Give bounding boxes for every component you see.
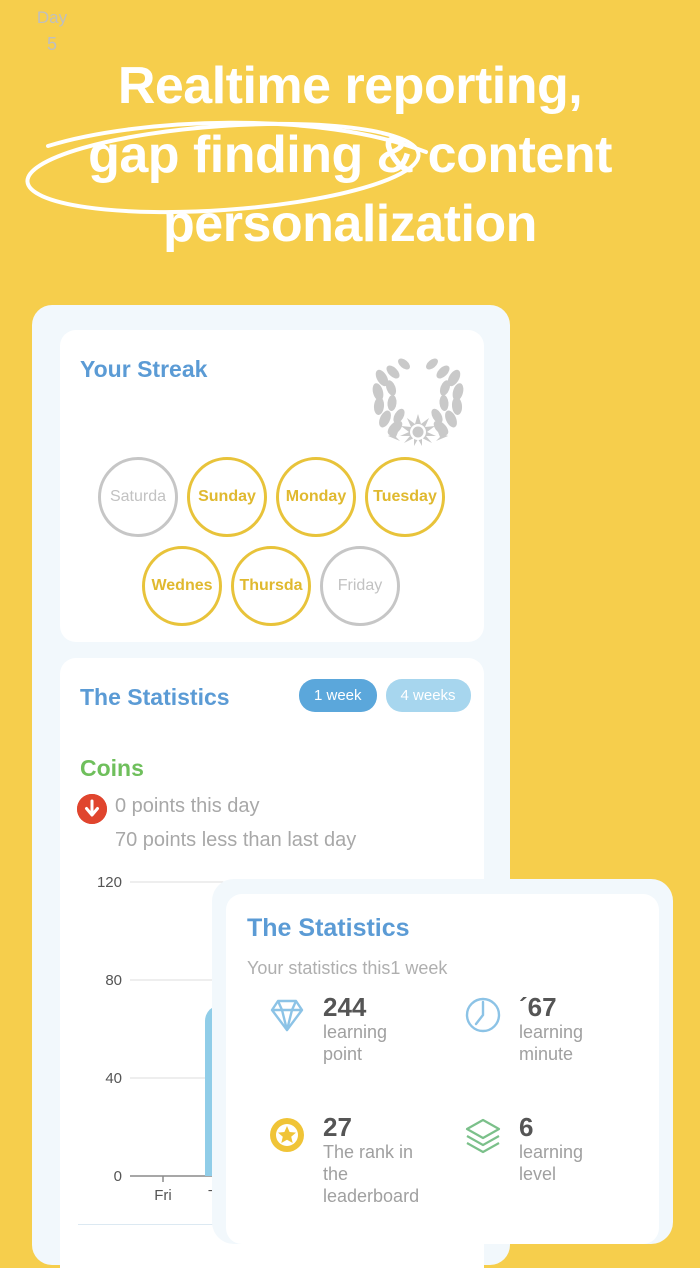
streak-days-row-bottom: Wednes Thursda Friday: [142, 546, 400, 626]
streak-day-label: Tuesday: [373, 488, 437, 506]
svg-text:80: 80: [105, 972, 122, 989]
stat-value: ´67: [519, 993, 611, 1021]
stat-leaderboard-rank: 27 The rank in the leaderboard: [265, 1113, 415, 1207]
svg-text:Fri: Fri: [154, 1187, 172, 1204]
stat-label: The rank in the leaderboard: [323, 1141, 415, 1207]
streak-day-label: Sunday: [198, 488, 256, 506]
stat-label: learning minute: [519, 1021, 611, 1065]
streak-day-friday[interactable]: Friday: [320, 546, 400, 626]
streak-day-wednesday[interactable]: Wednes: [142, 546, 222, 626]
overlay-card-title: The Statistics: [247, 914, 410, 943]
stat-learning-point: 244 learning point: [265, 993, 415, 1065]
coins-section-label: Coins: [80, 755, 144, 782]
streak-card-title: Your Streak: [80, 356, 207, 383]
clock-icon: [461, 993, 505, 1037]
streak-day-label: Thursda: [239, 577, 302, 595]
stat-value: 244: [323, 993, 415, 1021]
range-toggle-1-week[interactable]: 1 week: [299, 679, 377, 712]
stat-value: 6: [519, 1113, 611, 1141]
stat-learning-minute: ´67 learning minute: [461, 993, 611, 1065]
svg-text:40: 40: [105, 1070, 122, 1087]
streak-day-label: Wednes: [151, 577, 212, 595]
stat-learning-level: 6 learning level: [461, 1113, 611, 1185]
coins-trend-line-1: 0 points this day: [115, 795, 260, 818]
streak-day-sunday[interactable]: Sunday: [187, 457, 267, 537]
streak-day-monday[interactable]: Monday: [276, 457, 356, 537]
stat-label: learning point: [323, 1021, 415, 1065]
streak-day-saturday[interactable]: Saturda: [98, 457, 178, 537]
svg-text:0: 0: [114, 1168, 122, 1185]
star-badge-icon: [265, 1113, 309, 1157]
streak-day-label: Friday: [338, 577, 382, 595]
hero-line-3: personalization: [18, 190, 682, 259]
streak-days-row-top: Saturda Sunday Monday Tuesday: [98, 457, 445, 537]
laurel-wreath-icon: [366, 352, 470, 448]
range-toggle-4-weeks[interactable]: 4 weeks: [386, 679, 471, 712]
coins-trend-line-2: 70 points less than last day: [115, 829, 356, 852]
hero-line-1: Realtime reporting,: [18, 52, 682, 121]
hero-headline: Realtime reporting, gap finding & conten…: [0, 52, 700, 259]
stat-label: learning level: [519, 1141, 611, 1185]
badge-day-label: Day: [0, 8, 104, 28]
streak-day-tuesday[interactable]: Tuesday: [365, 457, 445, 537]
streak-day-label: Saturda: [110, 488, 166, 506]
statistics-card-title: The Statistics: [80, 684, 230, 711]
streak-day-label: Monday: [286, 488, 346, 506]
svg-text:120: 120: [97, 874, 122, 891]
arrow-down-circle-icon: [77, 794, 107, 824]
diamond-icon: [265, 993, 309, 1037]
overlay-card-subtitle: Your statistics this1 week: [247, 958, 447, 979]
range-toggle-group: 1 week 4 weeks: [299, 679, 471, 712]
stat-value: 27: [323, 1113, 415, 1141]
layers-icon: [461, 1113, 505, 1157]
streak-day-thursday[interactable]: Thursda: [231, 546, 311, 626]
hero-line-2: gap finding & content: [18, 121, 682, 190]
